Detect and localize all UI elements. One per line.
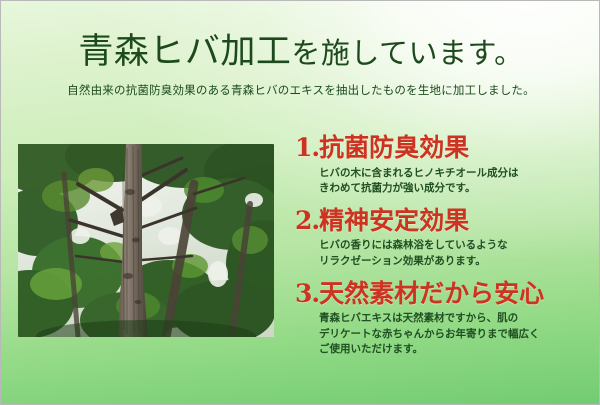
page-title-tail: を施しています。 [291, 36, 523, 70]
feature-3-body-line: 青森ヒバエキスは天然素材ですから、肌の [319, 311, 595, 326]
feature-1-body-line: ヒバの木に含まれるヒノキチオール成分は [319, 166, 595, 181]
banner-header: 青森ヒバ加工を施しています。 自然由来の抗菌防臭効果のある青森ヒバのエキスを抽出… [1, 35, 600, 98]
feature-list: 1.抗菌防臭効果 ヒバの木に含まれるヒノキチオール成分は きわめて抗菌力が強い成… [295, 133, 595, 357]
hiba-promo-banner: 青森ヒバ加工を施しています。 自然由来の抗菌防臭効果のある青森ヒバのエキスを抽出… [0, 0, 600, 405]
feature-3-heading: 3.天然素材だから安心 [295, 279, 595, 309]
feature-1-heading: 1.抗菌防臭効果 [295, 133, 595, 163]
page-subtitle: 自然由来の抗菌防臭効果のある青森ヒバのエキスを抽出したものを生地に加工しました。 [1, 82, 600, 98]
feature-1-body: ヒバの木に含まれるヒノキチオール成分は きわめて抗菌力が強い成分です。 [319, 166, 595, 196]
feature-2-body-line: ヒバの香りには森林浴をしているような [319, 238, 595, 253]
feature-3-number: 3. [295, 279, 319, 308]
hiba-forest-photo [18, 144, 274, 337]
feature-3-body-line: デリケートな赤ちゃんからお年寄りまで幅広く [319, 327, 595, 342]
page-title: 青森ヒバ加工を施しています。 [1, 35, 600, 70]
feature-2-body-line: リラクゼーション効果があります。 [319, 254, 595, 269]
feature-3-body-line: ご使用いただけます。 [319, 342, 595, 357]
feature-1-number: 1. [295, 133, 319, 162]
feature-3-title: 天然素材だから安心 [319, 279, 544, 308]
feature-2-heading: 2.精神安定効果 [295, 206, 595, 236]
feature-1-body-line: きわめて抗菌力が強い成分です。 [319, 181, 595, 196]
feature-1-title: 抗菌防臭効果 [319, 133, 469, 162]
forest-photo-illustration [18, 144, 274, 337]
feature-2-body: ヒバの香りには森林浴をしているような リラクゼーション効果があります。 [319, 238, 595, 268]
page-title-main: 青森ヒバ加工 [78, 32, 291, 72]
feature-item-3: 3.天然素材だから安心 青森ヒバエキスは天然素材ですから、肌の デリケートな赤ち… [295, 279, 595, 357]
feature-3-body: 青森ヒバエキスは天然素材ですから、肌の デリケートな赤ちゃんからお年寄りまで幅広… [319, 311, 595, 357]
feature-item-2: 2.精神安定効果 ヒバの香りには森林浴をしているような リラクゼーション効果があ… [295, 206, 595, 269]
feature-2-title: 精神安定効果 [319, 206, 469, 235]
feature-item-1: 1.抗菌防臭効果 ヒバの木に含まれるヒノキチオール成分は きわめて抗菌力が強い成… [295, 133, 595, 196]
feature-2-number: 2. [295, 206, 319, 235]
